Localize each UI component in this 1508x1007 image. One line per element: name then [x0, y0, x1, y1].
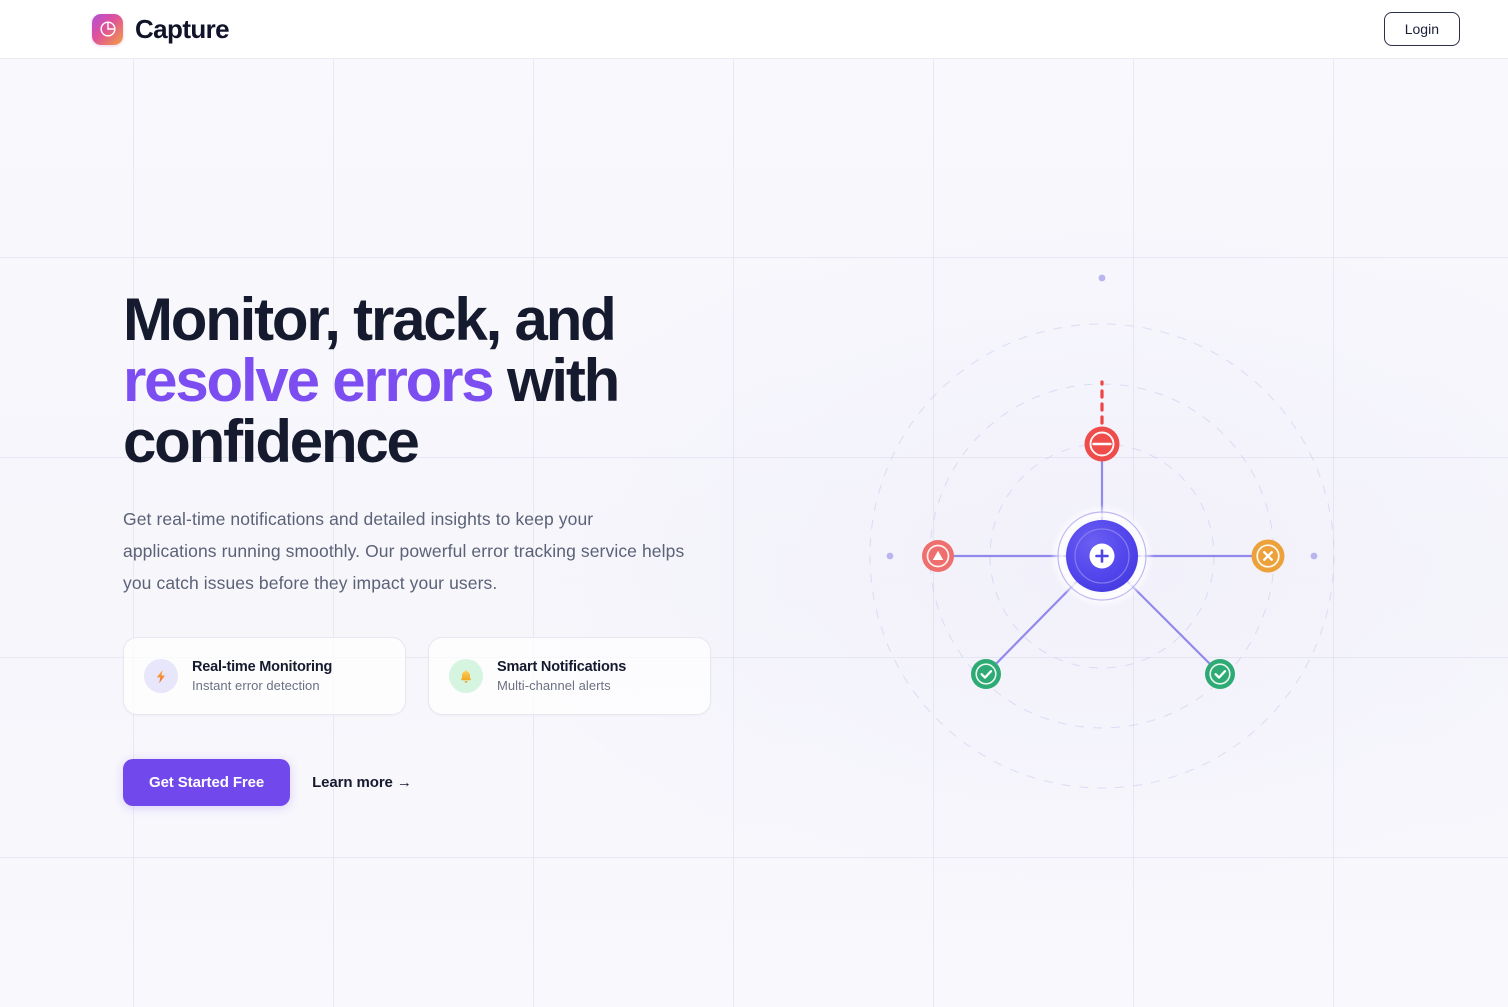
error-monitoring-radar-diagram — [840, 234, 1365, 814]
feature-title: Smart Notifications — [497, 659, 626, 675]
hero-section: Monitor, track, and resolve errors with … — [0, 59, 1508, 1007]
node-warning-left — [922, 540, 954, 572]
feature-text: Real-time Monitoring Instant error detec… — [192, 659, 332, 693]
lightning-bolt-icon — [144, 659, 178, 693]
hero-copy: Monitor, track, and resolve errors with … — [123, 289, 723, 599]
cta-row: Get Started Free Learn more → — [123, 759, 412, 806]
node-failed-right — [1252, 540, 1285, 573]
headline-line-3: confidence — [123, 408, 418, 475]
hero-subcopy: Get real-time notifications and detailed… — [123, 503, 688, 599]
center-hub-node — [1050, 504, 1154, 608]
brand-logo[interactable]: Capture — [92, 14, 229, 45]
node-error-top — [1085, 427, 1120, 462]
headline-accent: resolve errors — [123, 347, 492, 414]
feature-subtitle: Instant error detection — [192, 678, 332, 693]
get-started-free-button[interactable]: Get Started Free — [123, 759, 290, 806]
feature-card-real-time-monitoring[interactable]: Real-time Monitoring Instant error detec… — [123, 637, 406, 715]
node-resolved-bottom-left — [971, 659, 1001, 689]
capture-logo-icon — [92, 14, 123, 45]
headline-line-1: Monitor, track, and — [123, 286, 615, 353]
feature-card-list: Real-time Monitoring Instant error detec… — [123, 637, 711, 715]
bell-icon — [449, 659, 483, 693]
page-title: Monitor, track, and resolve errors with … — [123, 289, 723, 473]
node-resolved-bottom-right — [1205, 659, 1235, 689]
feature-card-smart-notifications[interactable]: Smart Notifications Multi-channel alerts — [428, 637, 711, 715]
feature-text: Smart Notifications Multi-channel alerts — [497, 659, 626, 693]
headline-line-2-tail: with — [492, 347, 618, 414]
brand-name: Capture — [135, 14, 229, 45]
feature-subtitle: Multi-channel alerts — [497, 678, 626, 693]
landing-page: Capture Login Monitor, track, and resolv… — [0, 0, 1508, 1007]
learn-more-link[interactable]: Learn more → — [312, 774, 412, 791]
login-button[interactable]: Login — [1384, 12, 1460, 46]
feature-title: Real-time Monitoring — [192, 659, 332, 675]
site-header: Capture Login — [0, 0, 1508, 59]
